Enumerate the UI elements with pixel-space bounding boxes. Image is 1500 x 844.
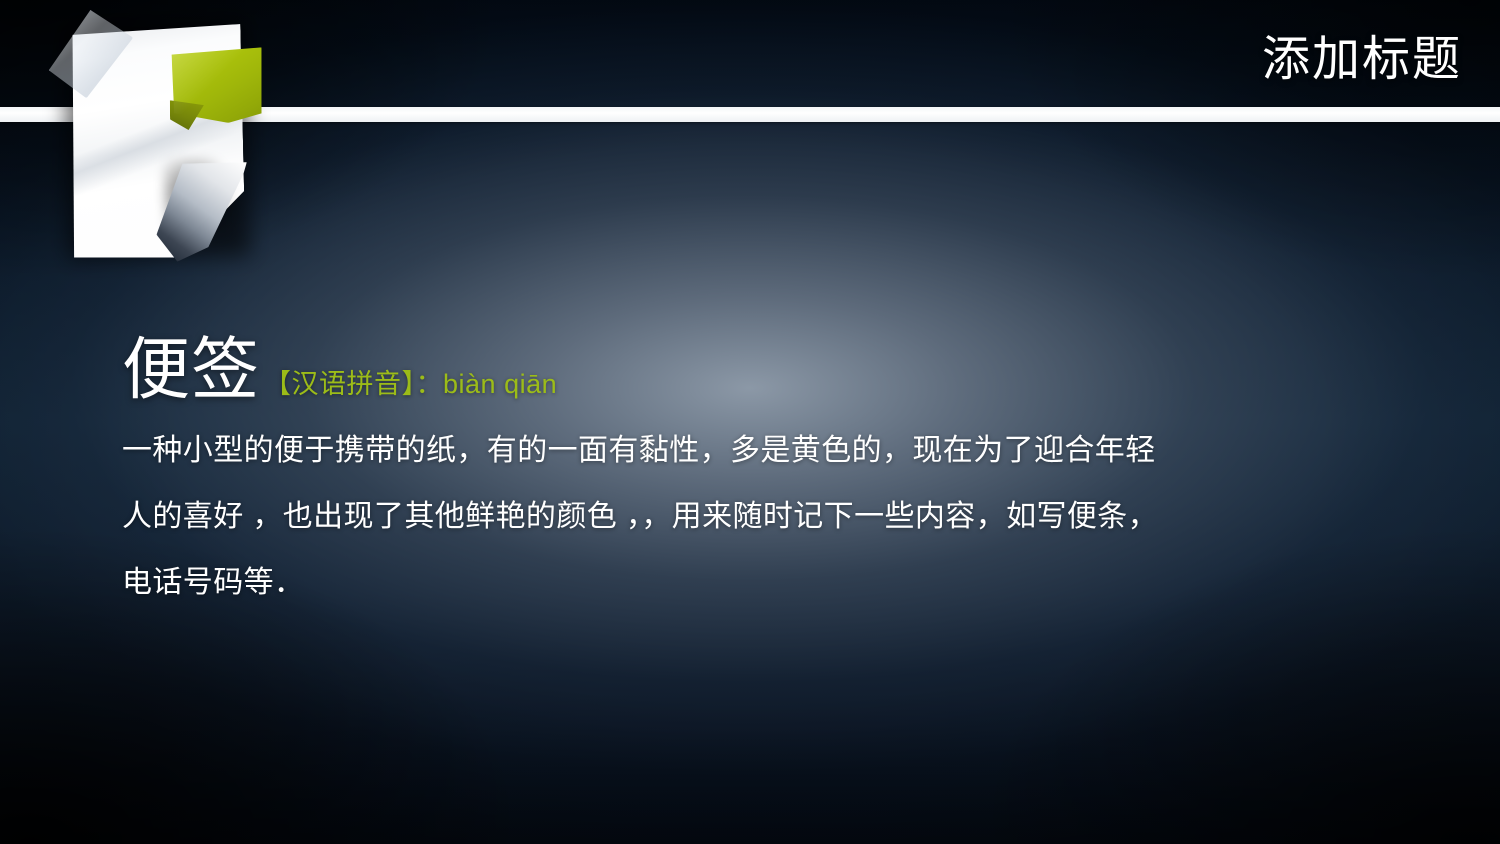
term-text: 便签 [122,336,260,404]
definition-line: 电话号码等． [122,550,1392,616]
definition-line: 一种小型的便于携带的纸，有的一面有黏性，多是黄色的，现在为了迎合年轻 [122,418,1392,484]
definition-line: 人的喜好 ，也出现了其他鲜艳的颜色 ，，用来随时记下一些内容，如写便条， [122,484,1392,550]
slide-title: 添加标题 [1262,36,1462,84]
definition-paragraph: 一种小型的便于携带的纸，有的一面有黏性，多是黄色的，现在为了迎合年轻 人的喜好 … [122,418,1392,616]
sticky-note-graphic [52,8,262,268]
term-heading-row: 便签 【汉语拼音】：biàn qiān [122,336,1402,404]
content-block: 便签 【汉语拼音】：biàn qiān 一种小型的便于携带的纸，有的一面有黏性，… [122,336,1402,616]
slide-canvas: 添加标题 便签 【汉语拼音】：biàn qiān 一种小型的便于携带的纸，有的一… [0,0,1500,844]
pinyin-text: 【汉语拼音】：biàn qiān [264,362,557,401]
